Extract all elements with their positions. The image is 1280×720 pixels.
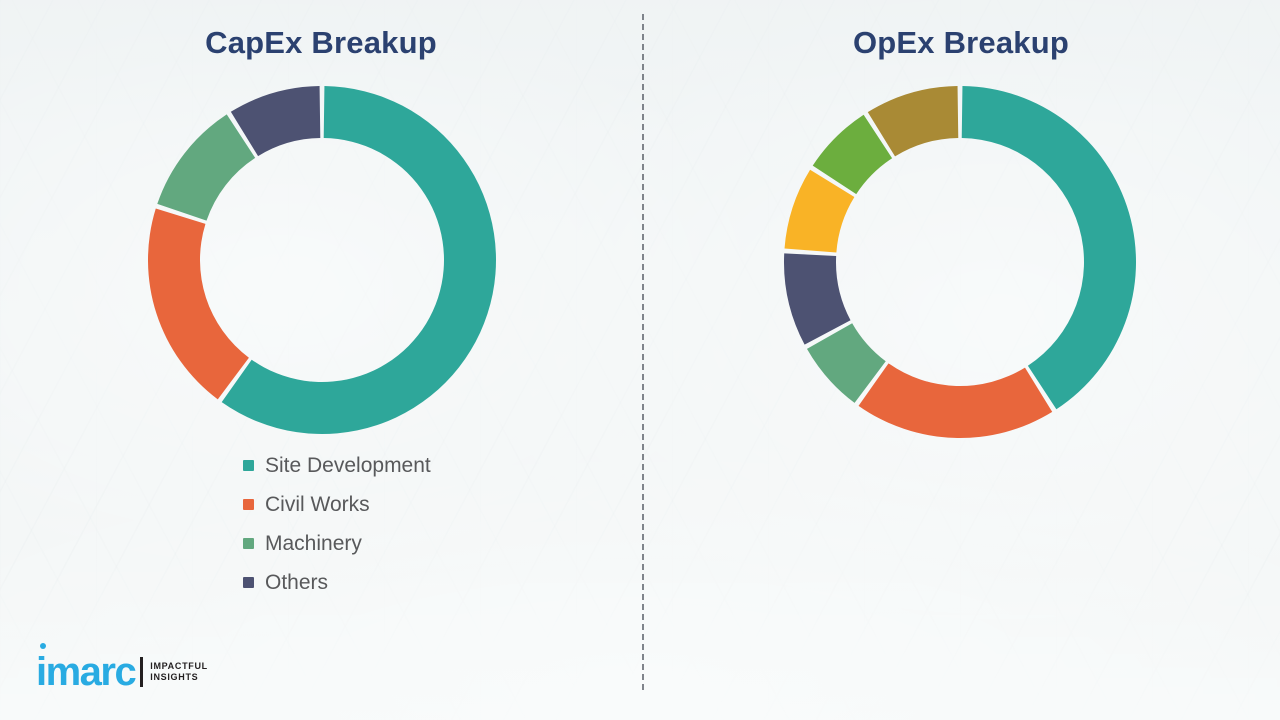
imarc-tagline-line2: INSIGHTS [150,672,208,683]
donut-slice[interactable]: Machinery [157,114,255,220]
imarc-logo: imarc IMPACTFUL INSIGHTS [36,652,208,692]
opex-panel-title: OpEx Breakup [642,25,1280,61]
imarc-dot-icon [40,643,46,649]
legend-item[interactable]: Civil Works [243,485,431,524]
imarc-wordmark: imarc [36,652,135,692]
capex-panel: CapEx Breakup Site DevelopmentCivil Work… [0,0,642,720]
donut-slice[interactable]: Salaries and Wages [859,363,1053,438]
infographic-slide: CapEx Breakup Site DevelopmentCivil Work… [0,0,1280,720]
legend-item-label: Civil Works [265,493,370,517]
legend-swatch-icon [243,538,254,549]
opex-donut-chart: Raw MaterialsSalaries and WagesUtilityTr… [783,85,1137,439]
opex-panel: OpEx Breakup Raw MaterialsSalaries and W… [642,0,1280,720]
logo-divider-rule [140,657,143,687]
legend-swatch-icon [243,460,254,471]
imarc-tagline-line1: IMPACTFUL [150,661,208,672]
capex-legend: Site DevelopmentCivil WorksMachineryOthe… [243,446,431,602]
imarc-tagline: IMPACTFUL INSIGHTS [150,661,208,683]
legend-swatch-icon [243,577,254,588]
donut-slice[interactable]: Raw Materials [962,86,1136,409]
opex-donut-svg: Raw MaterialsSalaries and WagesUtilityTr… [783,85,1137,439]
capex-panel-title: CapEx Breakup [0,25,642,61]
legend-item[interactable]: Others [243,563,431,602]
legend-item-label: Others [265,571,328,595]
donut-slice[interactable]: Civil Works [148,209,249,400]
legend-swatch-icon [243,499,254,510]
legend-item-label: Site Development [265,454,431,478]
capex-donut-svg: Site DevelopmentCivil WorksMachineryOthe… [147,85,497,435]
legend-item[interactable]: Machinery [243,524,431,563]
legend-item-label: Machinery [265,532,362,556]
legend-item[interactable]: Site Development [243,446,431,485]
imarc-wordmark-text: imarc [36,650,135,694]
capex-donut-chart: Site DevelopmentCivil WorksMachineryOthe… [147,85,497,435]
